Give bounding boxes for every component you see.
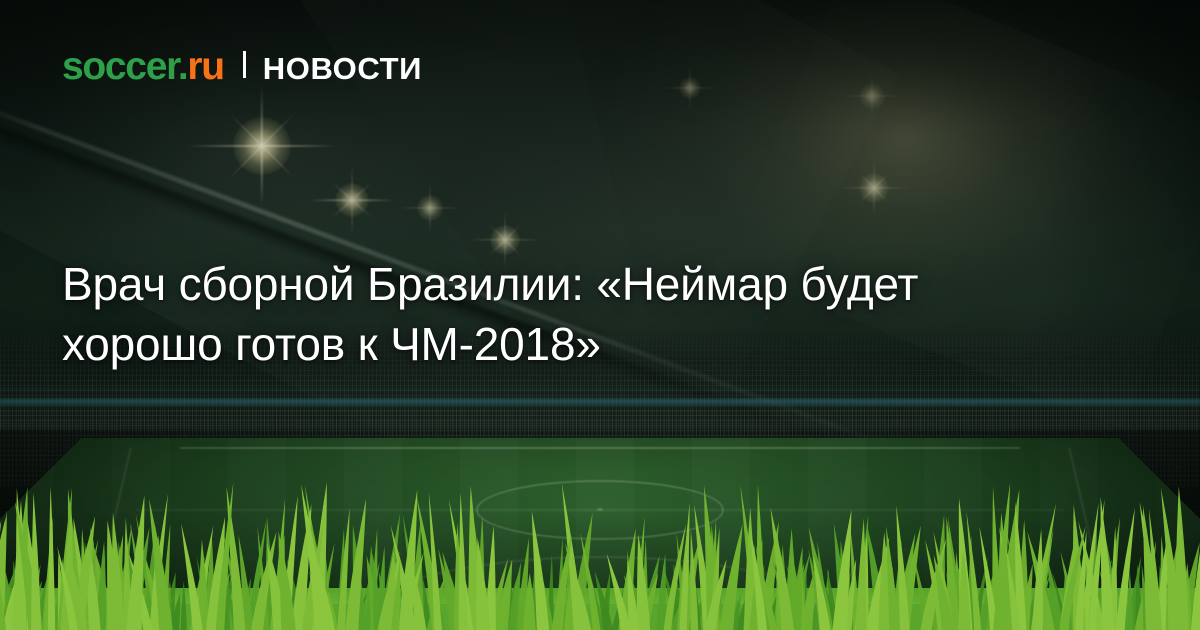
grass-foreground xyxy=(0,470,1200,630)
grass-blades xyxy=(0,470,1200,630)
site-logo[interactable]: soccer.ru xyxy=(62,47,224,86)
header-separator-icon xyxy=(243,51,246,78)
social-share-card: soccer.ru НОВОСТИ Врач сборной Бразилии:… xyxy=(0,0,1200,630)
grass-blade xyxy=(856,518,866,630)
article-headline: Врач сборной Бразилии: «Неймар будет хор… xyxy=(62,254,1072,374)
grass-blade xyxy=(31,493,41,630)
grass-blade xyxy=(459,493,468,630)
logo-word: soccer xyxy=(62,45,178,88)
header-section-label: НОВОСТИ xyxy=(263,53,422,84)
logo-dot: . xyxy=(178,45,188,88)
site-header: soccer.ru НОВОСТИ xyxy=(62,47,422,86)
grass-blade xyxy=(1032,529,1043,630)
grass-blade xyxy=(48,486,55,630)
logo-tld: ru xyxy=(187,45,223,88)
